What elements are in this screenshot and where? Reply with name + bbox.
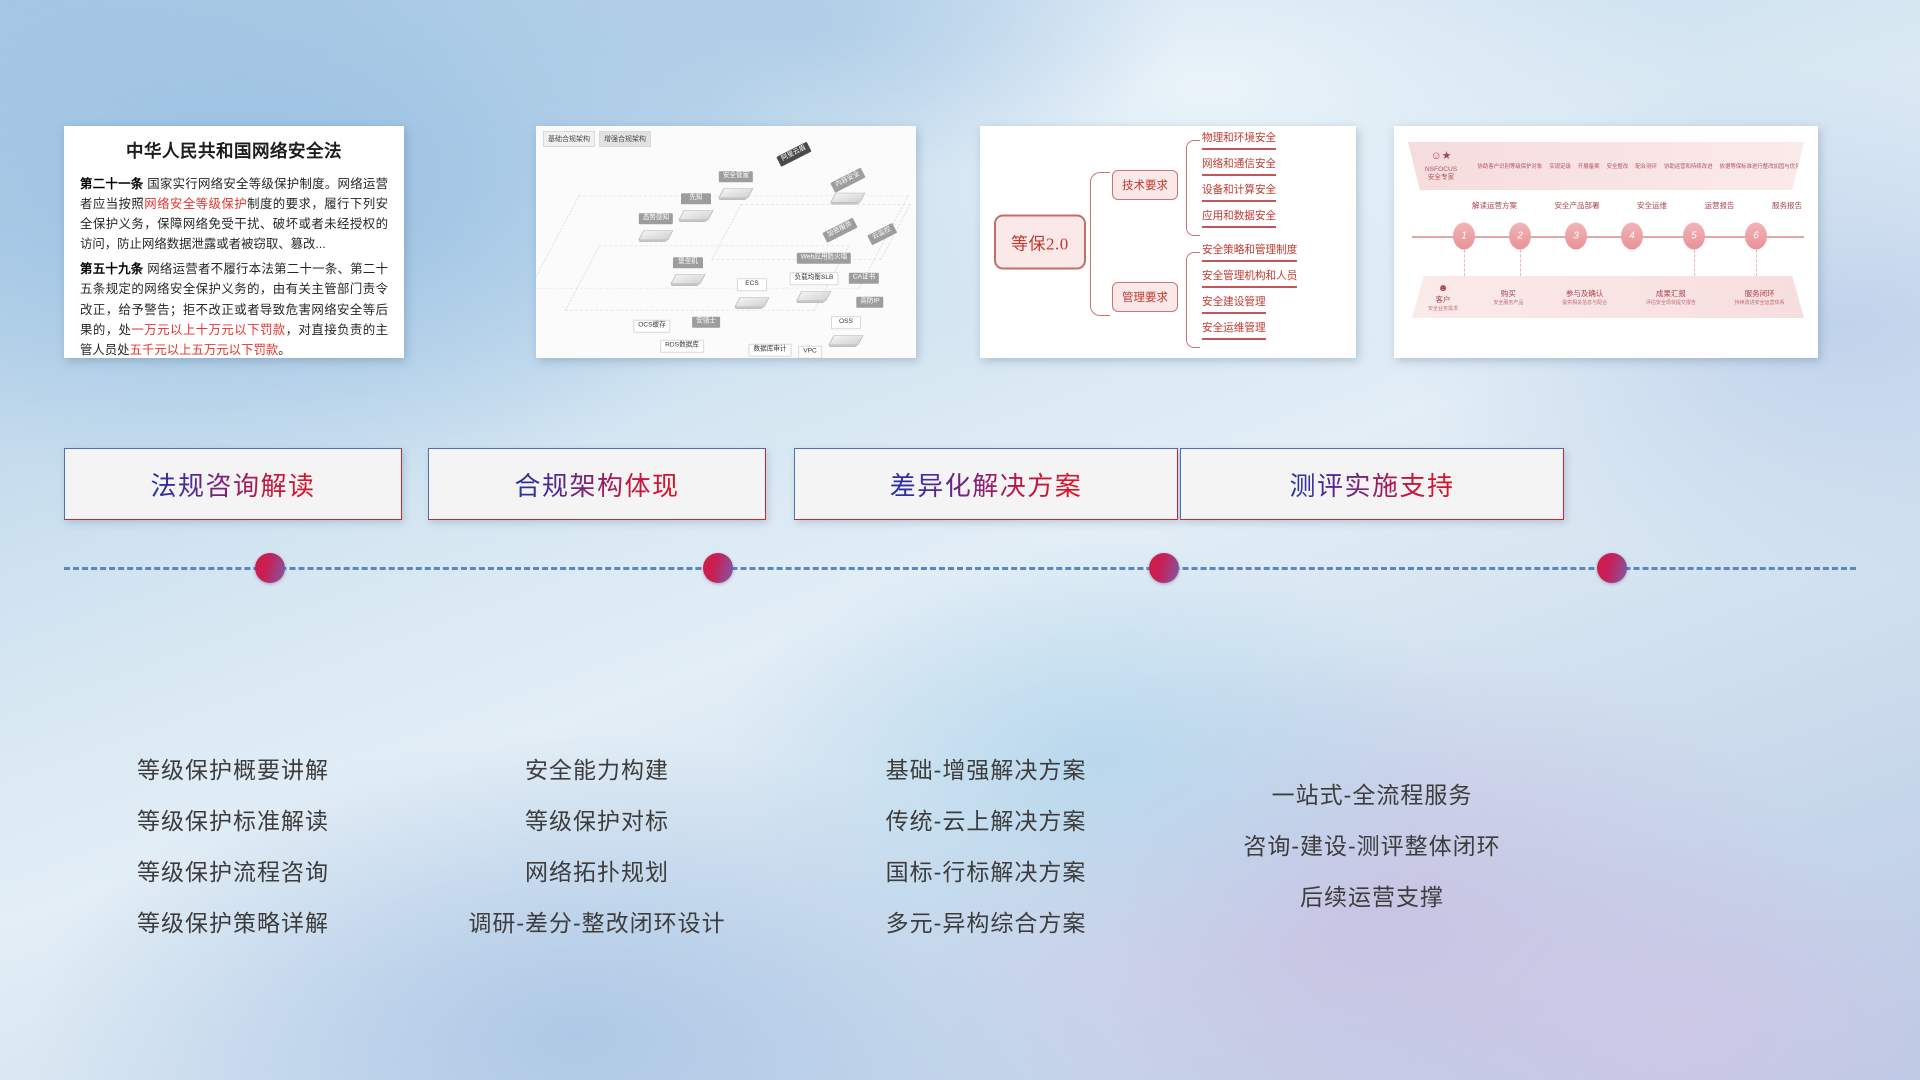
architecture-tab-group: 基础合规架构 增强合规架构 — [543, 131, 651, 147]
architecture-diagram: 基础合规架构 增强合规架构 阿里云盾 安全管家 先知 — [536, 126, 916, 358]
law-title: 中华人民共和国网络安全法 — [80, 138, 388, 163]
mindmap-branch-management: 管理要求 — [1112, 282, 1178, 312]
process-top-col-5: 协助运营和持续改进 — [1664, 162, 1713, 170]
timeline-dashed-line — [64, 567, 1856, 570]
thumbnail-card-row: 中华人民共和国网络安全法 第二十一条 国家实行网络安全等级保护制度。网络运营者应… — [0, 126, 1920, 360]
process-stage-4: 服务报告 — [1772, 200, 1802, 211]
process-step-6: 6 — [1745, 223, 1767, 250]
list-item: 等级保护流程咨询 — [64, 847, 402, 898]
list-item: 等级保护标准解读 — [64, 796, 402, 847]
mindmap-leaf-mgmt-2: 安全管理机构和人员 — [1202, 270, 1297, 288]
mindmap-leaf-mgmt-1: 安全策略和管理制度 — [1202, 244, 1297, 262]
list-item: 网络拓扑规划 — [428, 847, 766, 898]
law-article-21-highlight: 网络安全等级保护 — [144, 197, 247, 211]
mindmap-leaf-mgmt-4: 安全运维管理 — [1202, 322, 1266, 340]
law-article-21: 第二十一条 国家实行网络安全等级保护制度。网络运营者应当按照网络安全等级保护制度… — [80, 174, 388, 254]
arch-node-ocs: OCS缓存 — [633, 320, 670, 333]
law-article-59-highlight-1: 一万元以上十万元以下罚款 — [131, 323, 285, 337]
process-customer-tag: ☻ 客户 安全业务需求 — [1412, 283, 1474, 312]
list-item: 传统-云上解决方案 — [794, 796, 1178, 847]
process-top-col-1: 实现定级 — [1549, 162, 1571, 170]
arch-node-waf: Web应用防火墙 — [797, 253, 851, 264]
process-top-col-4: 配合测评 — [1635, 162, 1657, 170]
arch-node-internet: 阿里云盾 — [777, 149, 811, 160]
process-stage-1: 安全产品部署 — [1555, 200, 1600, 211]
mindmap-leaf-tech-1: 物理和环境安全 — [1202, 132, 1276, 150]
process-step-2: 2 — [1509, 223, 1531, 250]
arch-node-anqishi: 安骑士 — [692, 317, 720, 328]
title-box-consulting[interactable]: 法规咨询解读 — [64, 448, 402, 520]
process-step-5: 5 — [1683, 223, 1705, 250]
list-item: 等级保护概要讲解 — [64, 745, 402, 796]
list-item: 等级保护策略详解 — [64, 898, 402, 949]
process-step-1: 1 — [1453, 223, 1475, 250]
list-item: 一站式-全流程服务 — [1180, 770, 1564, 821]
title-label-assessment: 测评实施支持 — [1289, 466, 1454, 503]
process-customer-label: 客户 — [1412, 294, 1474, 305]
process-top-col-2: 开展备案 — [1578, 162, 1600, 170]
title-box-solutions[interactable]: 差异化解决方案 — [794, 448, 1178, 520]
process-stage-2: 安全运维 — [1637, 200, 1667, 211]
process-stage-3: 运营报告 — [1705, 200, 1735, 211]
title-box-assessment[interactable]: 测评实施支持 — [1180, 448, 1564, 520]
process-bottom-item-2: 成果汇报 评估安全现状提交报告 — [1646, 288, 1696, 306]
arch-node-slb: 负载均衡SLB — [790, 272, 839, 304]
process-bottom-item-1: 参与及确认 提供相关信息与配合 — [1562, 288, 1607, 306]
law-article-59-label: 第五十九条 — [80, 262, 143, 276]
mindmap-leaf-tech-2: 网络和通信安全 — [1202, 158, 1276, 176]
arch-node-anti-ddos: 高防IP — [856, 297, 883, 308]
arch-node-bastion: 堡垒机 — [673, 257, 703, 287]
arch-node-situation-awareness: 态势感知 — [639, 213, 673, 243]
list-item: 后续运营支撑 — [1180, 872, 1564, 923]
mindmap-leaf-tech-3: 设备和计算安全 — [1202, 184, 1276, 202]
process-top-col-3: 安全整改 — [1607, 162, 1629, 170]
mindmap-leaf-mgmt-3: 安全建设管理 — [1202, 296, 1266, 314]
mindmap-root-node: 等保2.0 — [994, 215, 1086, 270]
timeline-dot-3[interactable] — [1149, 553, 1179, 583]
law-article-21-label: 第二十一条 — [80, 177, 143, 191]
arch-node-ca-cert: CA证书 — [849, 273, 879, 284]
law-document-body: 中华人民共和国网络安全法 第二十一条 国家实行网络安全等级保护制度。网络运营者应… — [64, 126, 404, 358]
title-box-architecture[interactable]: 合规架构体现 — [428, 448, 766, 520]
timeline-dot-4[interactable] — [1597, 553, 1627, 583]
service-list-assessment: 一站式-全流程服务 咨询-建设-测评整体闭环 后续运营支撑 — [1180, 745, 1564, 923]
slide-content: 中华人民共和国网络安全法 第二十一条 国家实行网络安全等级保护制度。网络运营者应… — [0, 0, 1920, 1080]
process-top-ribbon: ☺★ NSFOCUS 安全专家 协助客户识别等级保护对象 实现定级 开展备案 安… — [1408, 142, 1804, 190]
card-law-document[interactable]: 中华人民共和国网络安全法 第二十一条 国家实行网络安全等级保护制度。网络运营者应… — [64, 126, 404, 358]
architecture-tab-enhanced[interactable]: 增强合规架构 — [599, 131, 651, 147]
process-bottom-ribbon: ☻ 客户 安全业务需求 购买 安全服务产品 参与及确认 提供相关信息与配合 — [1412, 276, 1804, 318]
law-article-59-text-c: 。 — [278, 343, 290, 357]
title-label-architecture: 合规架构体现 — [514, 466, 679, 503]
process-flow-diagram: ☺★ NSFOCUS 安全专家 协助客户识别等级保护对象 实现定级 开展备案 安… — [1394, 126, 1818, 358]
process-customer-sub: 安全业务需求 — [1412, 305, 1474, 312]
card-cloud-architecture[interactable]: 基础合规架构 增强合规架构 阿里云盾 安全管家 先知 — [536, 126, 916, 358]
timeline-dot-2[interactable] — [703, 553, 733, 583]
process-step-4: 4 — [1621, 223, 1643, 250]
title-box-row: 法规咨询解读 合规架构体现 差异化解决方案 测评实施支持 — [0, 448, 1920, 520]
title-label-consulting: 法规咨询解读 — [150, 466, 315, 503]
mindmap-branch-technical: 技术要求 — [1112, 170, 1178, 200]
list-item: 国标-行标解决方案 — [794, 847, 1178, 898]
service-list-consulting: 等级保护概要讲解 等级保护标准解读 等级保护流程咨询 等级保护策略详解 — [64, 745, 402, 949]
mindmap-leaf-tech-4: 应用和数据安全 — [1202, 210, 1276, 228]
arch-node-db-audit: 数据库审计 — [749, 344, 792, 357]
arch-node-security-manager: 安全管家 — [719, 171, 753, 201]
service-list-solutions: 基础-增强解决方案 传统-云上解决方案 国标-行标解决方案 多元-异构综合方案 — [794, 745, 1178, 949]
list-item: 调研-差分-整改闭环设计 — [428, 898, 766, 949]
law-article-59: 第五十九条 网络运营者不履行本法第二十一条、第二十五条规定的网络安全保护义务的，… — [80, 259, 388, 358]
arch-node-xianzhi: 先知 — [681, 193, 711, 223]
arch-node-encryption: 加密服务 — [823, 225, 857, 236]
process-top-columns: 协助客户识别等级保护对象 实现定级 开展备案 安全整改 配合测评 协助运营和持续… — [1474, 162, 1804, 170]
arch-node-oss: OSS — [831, 316, 861, 348]
list-item: 基础-增强解决方案 — [794, 745, 1178, 796]
process-bottom-item-3: 服务闭环 持续改进安全运营体系 — [1735, 288, 1785, 306]
process-step-3: 3 — [1565, 223, 1587, 250]
customer-icon: ☻ — [1412, 283, 1474, 294]
card-mindmap[interactable]: 等保2.0 技术要求 管理要求 物理和环境安全 网络和通信安全 设备和计算安全 … — [980, 126, 1356, 358]
mindmap-diagram: 等保2.0 技术要求 管理要求 物理和环境安全 网络和通信安全 设备和计算安全 … — [980, 126, 1356, 358]
law-article-59-highlight-2: 五千元以上五万元以下罚款 — [130, 343, 279, 357]
arch-node-rds: RDS数据库 — [660, 340, 704, 353]
title-label-solutions: 差异化解决方案 — [890, 466, 1083, 503]
person-star-icon: ☺★ — [1408, 149, 1474, 164]
arch-node-content-safety: 内容安全 — [831, 175, 865, 206]
arch-node-ecs: ECS — [737, 278, 767, 310]
service-list-architecture: 安全能力构建 等级保护对标 网络拓扑规划 调研-差分-整改闭环设计 — [428, 745, 766, 949]
timeline — [0, 567, 1920, 569]
process-brand-sub: 安全专家 — [1408, 174, 1474, 183]
list-item: 多元-异构综合方案 — [794, 898, 1178, 949]
process-bottom-item-0: 购买 安全服务产品 — [1493, 288, 1523, 306]
list-item: 咨询-建设-测评整体闭环 — [1180, 821, 1564, 872]
architecture-tab-basic[interactable]: 基础合规架构 — [543, 131, 595, 147]
card-service-process[interactable]: ☺★ NSFOCUS 安全专家 协助客户识别等级保护对象 实现定级 开展备案 安… — [1394, 126, 1818, 358]
list-item: 等级保护对标 — [428, 796, 766, 847]
process-top-col-0: 协助客户识别等级保护对象 — [1478, 162, 1543, 170]
process-stage-0: 解读运营方案 — [1472, 200, 1517, 211]
arch-node-cloud-monitor: 云监控 — [868, 229, 896, 240]
process-top-col-6: 依据等保标准进行整改加固与优化 — [1720, 162, 1801, 170]
process-stage-labels: 解读运营方案 安全产品部署 安全运维 运营报告 服务报告 — [1472, 200, 1802, 211]
timeline-dot-1[interactable] — [255, 553, 285, 583]
list-item: 安全能力构建 — [428, 745, 766, 796]
process-brand: ☺★ NSFOCUS 安全专家 — [1408, 149, 1474, 184]
arch-node-vpc: VPC — [798, 346, 822, 358]
